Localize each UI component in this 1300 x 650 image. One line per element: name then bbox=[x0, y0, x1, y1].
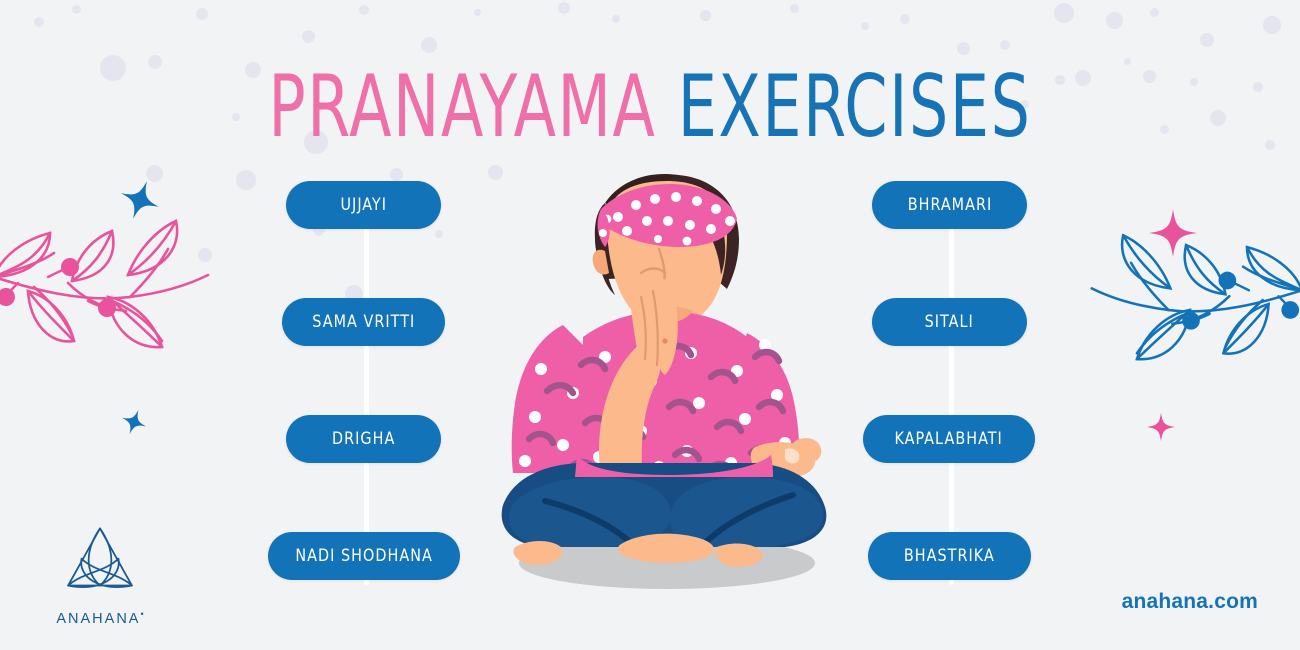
yoga-woman-illustration bbox=[455, 155, 875, 605]
pill-kapalabhati-label: KAPALABHATI bbox=[895, 429, 1003, 449]
pill-ujjayi[interactable]: UJJAYI bbox=[286, 181, 441, 229]
pill-drigha-label: DRIGHA bbox=[332, 429, 395, 449]
pill-nadi-shodhana[interactable]: NADI SHODHANA bbox=[268, 532, 460, 580]
connector-line-left bbox=[364, 205, 369, 585]
pill-sitali[interactable]: SITALI bbox=[872, 298, 1027, 346]
sparkle-star-pink-lower-right bbox=[1146, 412, 1176, 442]
botanical-branch-pink-left bbox=[0, 205, 222, 385]
anahana-logo[interactable]: ANAHANA• bbox=[40, 520, 160, 628]
pill-bhastrika[interactable]: BHASTRIKA bbox=[868, 532, 1031, 580]
page-title: PRANAYAMA EXERCISES bbox=[0, 64, 1300, 150]
pill-bhastrika-label: BHASTRIKA bbox=[904, 546, 995, 566]
trademark-mark: • bbox=[140, 609, 143, 619]
pill-ujjayi-label: UJJAYI bbox=[340, 195, 387, 215]
sparkle-star-blue-lower-left bbox=[120, 408, 148, 436]
anahana-wordmark: ANAHANA• bbox=[56, 609, 143, 627]
pill-drigha[interactable]: DRIGHA bbox=[286, 415, 441, 463]
website-url[interactable]: anahana.com bbox=[1122, 590, 1258, 614]
pill-bhramari-label: BHRAMARI bbox=[907, 195, 992, 215]
pill-kapalabhati[interactable]: KAPALABHATI bbox=[863, 415, 1035, 463]
sparkle-star-blue-upper-left bbox=[118, 178, 162, 222]
triquetra-icon bbox=[58, 520, 142, 604]
anahana-wordmark-text: ANAHANA bbox=[56, 611, 140, 627]
pill-nadi-shodhana-label: NADI SHODHANA bbox=[295, 546, 432, 566]
right-exercise-column: BHRAMARI SITALI KAPALABHATI BHASTRIKA bbox=[838, 0, 1098, 650]
connector-line-right bbox=[949, 205, 954, 585]
pill-sama-vritti[interactable]: SAMA VRITTI bbox=[282, 298, 445, 346]
pill-bhramari[interactable]: BHRAMARI bbox=[872, 181, 1027, 229]
pill-sama-vritti-label: SAMA VRITTI bbox=[312, 312, 415, 332]
pill-sitali-label: SITALI bbox=[925, 312, 974, 332]
pranayama-exercises-infographic: PRANAYAMA EXERCISES bbox=[0, 0, 1300, 650]
sparkle-star-pink-upper-right bbox=[1148, 208, 1198, 258]
